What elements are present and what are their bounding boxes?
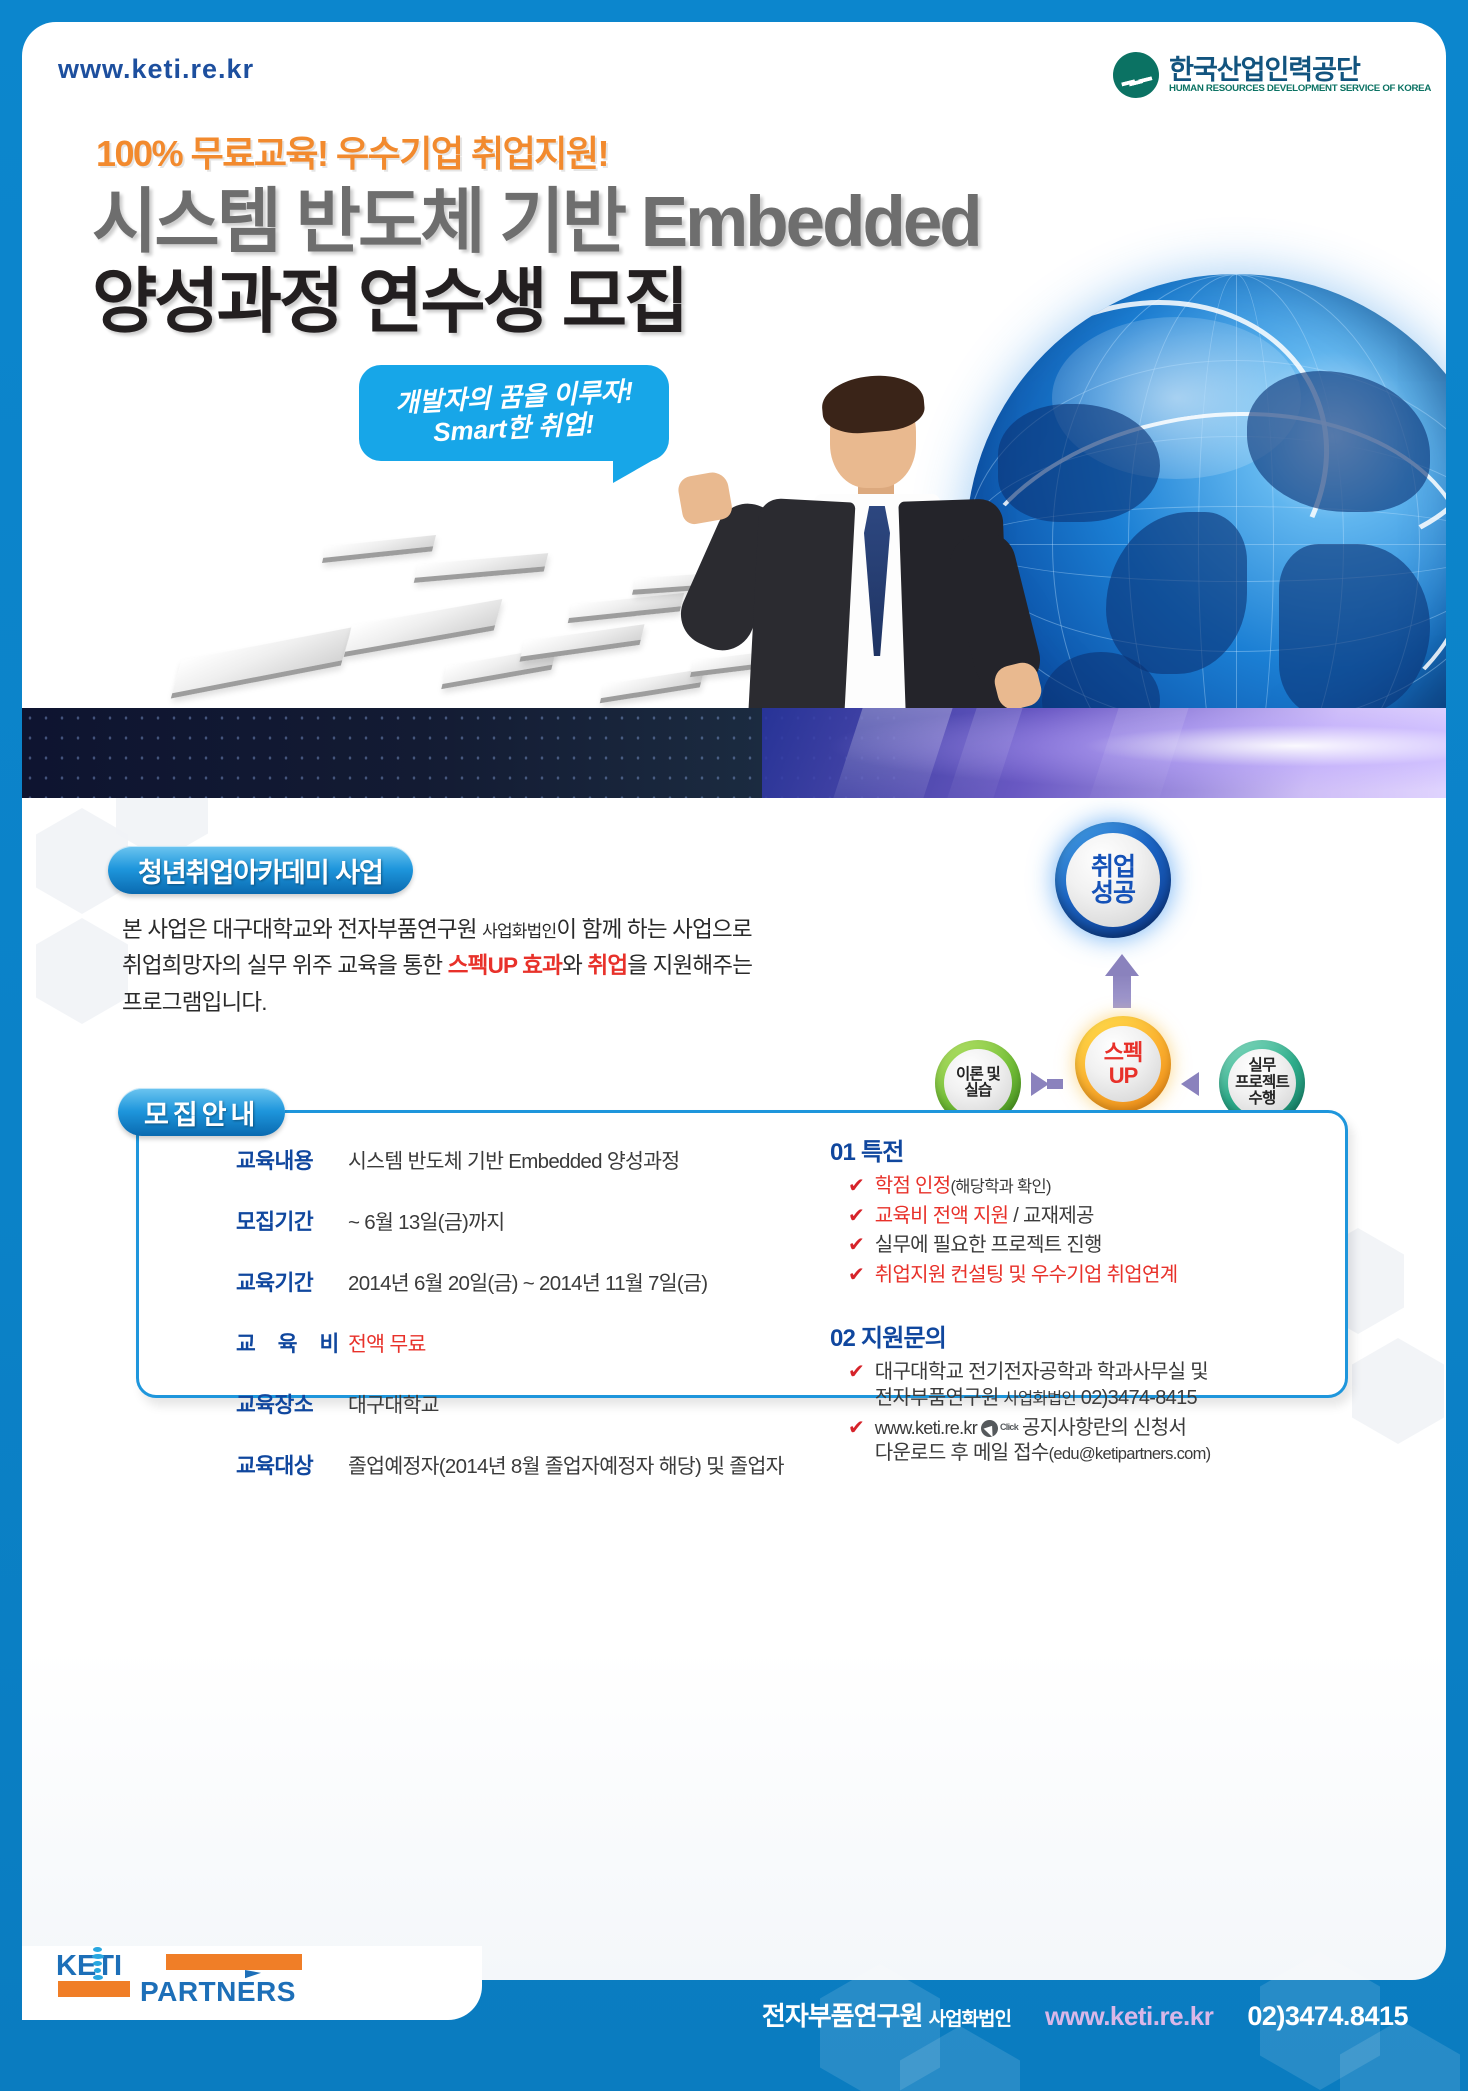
apply-line1b: 공지사항란의 신청서 (1022, 1417, 1186, 1439)
list-item: ✔ 학점 인정(해당학과 확인) (830, 1174, 1340, 1200)
magnifier-cursor-icon (981, 1420, 998, 1437)
row-label: 교육장소 (236, 1388, 348, 1419)
row-value-text: 졸업예정자(2014년 8월 졸업자예정자 해당) 및 졸업자 (348, 1455, 784, 1478)
hrd-emblem-icon (1113, 52, 1159, 98)
intro-highlight-2: 취업 (587, 953, 627, 978)
list-item: ✔ www.keti.re.krClick공지사항란의 신청서 다운로드 후 메… (830, 1416, 1340, 1467)
diagram-success-line2: 성공 (1091, 880, 1135, 907)
footer-url[interactable]: www.keti.re.kr (1045, 2001, 1213, 2032)
row-value: 시스템 반도체 기반 Embedded 양성과정 (348, 1144, 679, 1174)
apply-email: (edu@ketipartners.com) (1049, 1445, 1211, 1463)
contact-line2a: 전자부품연구원 (875, 1387, 1004, 1409)
inquiry-section-title: 02 지원문의 (830, 1318, 1340, 1353)
keti-bar-bottom (58, 1981, 130, 1997)
check-icon: ✔ (848, 1204, 865, 1229)
footer-phone: 02)3474.8415 (1247, 2001, 1408, 2032)
recruitment-card: 모집안내 교육내용 시스템 반도체 기반 Embedded 양성과정 모집기간 … (118, 1088, 1348, 1398)
benefit-red: 취업지원 컨설팅 및 우수기업 취업연계 (875, 1264, 1178, 1286)
benefit-text: 교육비 전액 지원 / 교재제공 (875, 1204, 1094, 1230)
row-label: 교육내용 (236, 1144, 348, 1175)
speech-bubble: 개발자의 꿈을 이루자! Smart한 취업! (359, 365, 669, 461)
intro-block: 청년취업아카데미 사업 본 사업은 대구대학교와 전자부품연구원 사업화법인이 … (108, 846, 762, 1021)
hero-website-url[interactable]: www.keti.re.kr (58, 54, 254, 85)
businessman-photo (662, 382, 1082, 708)
check-icon: ✔ (848, 1233, 865, 1258)
keti-wordmark: KETI (56, 1950, 122, 1983)
row-label: 교육대상 (236, 1449, 348, 1480)
row-value: 전액 무료 (348, 1327, 426, 1357)
check-icon: ✔ (848, 1360, 865, 1385)
contact-line2b: 사업화법인 (1004, 1390, 1076, 1408)
benefit-small: (해당학과 확인) (950, 1178, 1050, 1196)
contact-line1: 대구대학교 전기전자공학과 학과사무실 및 (875, 1361, 1208, 1383)
benefits-section-title: 01 특전 (830, 1132, 1340, 1167)
diagram-arrow-up-stem (1113, 974, 1131, 1008)
list-item: ✔ 교육비 전액 지원 / 교재제공 (830, 1204, 1340, 1230)
footer-contact-info: 전자부품연구원 사업화법인 www.keti.re.kr 02)3474.841… (418, 1996, 1468, 2033)
intro-text-a-small: 사업화법인 (482, 922, 556, 941)
check-icon: ✔ (848, 1416, 865, 1441)
row-label: 모집기간 (236, 1205, 348, 1236)
content-panel: 청년취업아카데미 사업 본 사업은 대구대학교와 전자부품연구원 사업화법인이 … (22, 798, 1446, 1980)
list-item: ✔ 실무에 필요한 프로젝트 진행 (830, 1233, 1340, 1259)
recruit-benefits-column: 01 특전 ✔ 학점 인정(해당학과 확인) ✔ 교육비 전액 지원 / 교재제… (830, 1132, 1340, 1471)
footer-bar: KETI PARTNERS 전자부품연구원 사업화법인 www.keti.re.… (0, 1980, 1468, 2091)
check-icon: ✔ (848, 1263, 865, 1288)
diagram-arrow-up-icon (1105, 954, 1139, 976)
apply-line2a: 다운로드 후 메일 접수 (875, 1442, 1049, 1464)
row-label: 교 육 비 (236, 1327, 348, 1358)
row-value: 2014년 6월 20일(금) ~ 2014년 11월 7일(금) (348, 1266, 707, 1296)
diagram-spec-line1: 스펙 (1104, 1041, 1142, 1064)
hrd-korea-logo: 한국산업인력공단 HUMAN RESOURCES DEVELOPMENT SER… (1113, 52, 1426, 98)
benefits-list: ✔ 학점 인정(해당학과 확인) ✔ 교육비 전액 지원 / 교재제공 ✔ 실무… (830, 1174, 1340, 1288)
diagram-node-success: 취업 성공 (1055, 822, 1171, 938)
apply-url[interactable]: www.keti.re.kr (875, 1418, 977, 1438)
intro-paragraph: 본 사업은 대구대학교와 전자부품연구원 사업화법인이 함께 하는 사업으로 취… (122, 912, 762, 1021)
contact-text: 대구대학교 전기전자공학과 학과사무실 및 전자부품연구원 사업화법인 02)3… (875, 1360, 1208, 1411)
intro-highlight-1: 스펙UP 효과 (448, 953, 562, 978)
benefit-red: 학점 인정 (875, 1175, 951, 1197)
table-row: 교육장소 대구대학교 (236, 1388, 806, 1419)
benefit-text: 실무에 필요한 프로젝트 진행 (875, 1233, 1102, 1259)
table-row: 교육기간 2014년 6월 20일(금) ~ 2014년 11월 7일(금) (236, 1266, 806, 1297)
row-value: 졸업예정자(2014년 8월 졸업자예정자 해당) 및 졸업자 (348, 1449, 784, 1479)
hrd-name-korean: 한국산업인력공단 (1169, 56, 1426, 84)
row-value: ~ 6월 13일(금)까지 (348, 1205, 504, 1235)
benefit-text: 취업지원 컨설팅 및 우수기업 취업연계 (875, 1263, 1178, 1289)
inquiry-list: ✔ 대구대학교 전기전자공학과 학과사무실 및 전자부품연구원 사업화법인 02… (830, 1360, 1340, 1466)
list-item: ✔ 취업지원 컨설팅 및 우수기업 취업연계 (830, 1263, 1340, 1289)
decorative-banner-strip (22, 708, 1446, 798)
intro-text-a: 본 사업은 대구대학교와 전자부품연구원 (122, 917, 482, 942)
click-here-icon[interactable]: Click (981, 1420, 1018, 1437)
benefit-red: 교육비 전액 지원 (875, 1205, 1009, 1227)
poster-root: www.keti.re.kr 한국산업인력공단 HUMAN RESOURCES … (0, 0, 1468, 2091)
footer-org-small: 사업화법인 (929, 2009, 1011, 2030)
recruit-badge: 모집안내 (118, 1088, 285, 1136)
contact-phone: 02)3474-8415 (1076, 1387, 1197, 1409)
click-label: Click (1000, 1422, 1018, 1434)
table-row: 교육내용 시스템 반도체 기반 Embedded 양성과정 (236, 1144, 806, 1175)
benefit-text: 학점 인정(해당학과 확인) (875, 1174, 1051, 1200)
intro-text-c: 와 (562, 953, 587, 978)
keti-bar-top (166, 1954, 302, 1970)
recruit-details-list: 교육내용 시스템 반도체 기반 Embedded 양성과정 모집기간 ~ 6월 … (236, 1144, 806, 1480)
diagram-project-line1: 실무 (1249, 1058, 1276, 1074)
keti-partners-logo: KETI PARTNERS (56, 1948, 286, 2010)
partners-wordmark: PARTNERS (140, 1976, 296, 2008)
intro-badge: 청년취업아카데미 사업 (108, 846, 413, 894)
hrd-name-english: HUMAN RESOURCES DEVELOPMENT SERVICE OF K… (1169, 84, 1431, 94)
benefit-gray: 실무에 필요한 프로젝트 진행 (875, 1234, 1102, 1256)
list-item: ✔ 대구대학교 전기전자공학과 학과사무실 및 전자부품연구원 사업화법인 02… (830, 1360, 1340, 1411)
table-row: 교 육 비 전액 무료 (236, 1327, 806, 1358)
benefit-gray: / 교재제공 (1008, 1205, 1093, 1227)
footer-org: 전자부품연구원 사업화법인 (762, 1996, 1011, 2033)
row-label: 교육기간 (236, 1266, 348, 1297)
footer-org-name: 전자부품연구원 (762, 2001, 929, 2031)
diagram-theory-line1: 이론 및 (956, 1067, 1000, 1083)
apply-text: www.keti.re.krClick공지사항란의 신청서 다운로드 후 메일 … (875, 1416, 1211, 1467)
hero-title-line2: 양성과정 연수생 모집 (92, 245, 686, 347)
hero-panel: www.keti.re.kr 한국산업인력공단 HUMAN RESOURCES … (22, 22, 1446, 708)
diagram-spec-line2: UP (1109, 1064, 1138, 1087)
row-value: 대구대학교 (348, 1388, 439, 1418)
table-row: 모집기간 ~ 6월 13일(금)까지 (236, 1205, 806, 1236)
check-icon: ✔ (848, 1174, 865, 1199)
table-row: 교육대상 졸업예정자(2014년 8월 졸업자예정자 해당) 및 졸업자 (236, 1449, 806, 1480)
diagram-success-line1: 취업 (1091, 854, 1135, 881)
